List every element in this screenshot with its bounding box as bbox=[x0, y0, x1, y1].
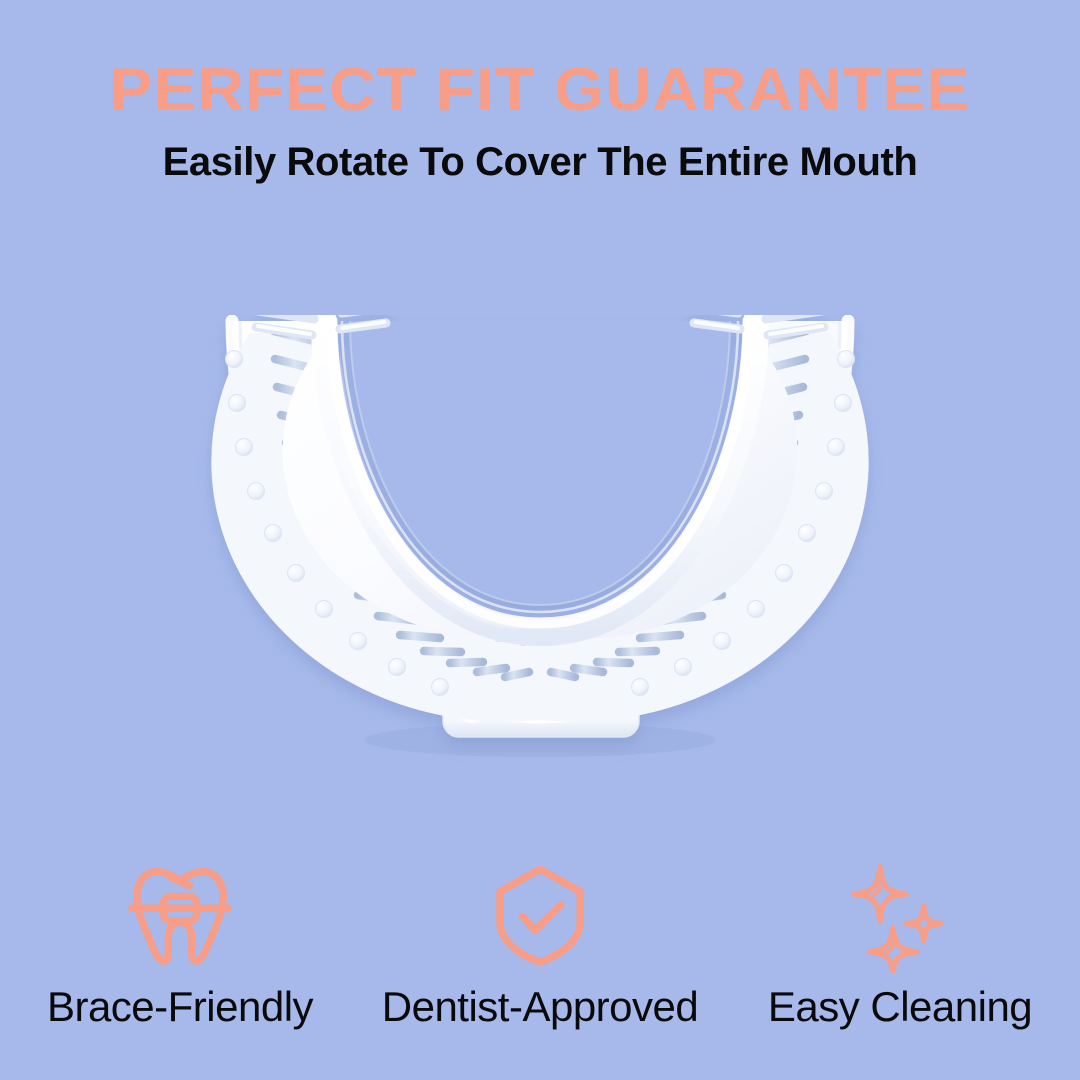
feature-item-easy-cleaning: Easy Cleaning bbox=[720, 855, 1080, 1031]
infographic-canvas: PERFECT FIT GUARANTEE Easily Rotate To C… bbox=[0, 0, 1080, 1080]
feature-label: Dentist-Approved bbox=[382, 983, 699, 1031]
feature-label: Easy Cleaning bbox=[768, 983, 1032, 1031]
headline-block: PERFECT FIT GUARANTEE Easily Rotate To C… bbox=[0, 0, 1080, 184]
product-body-group bbox=[190, 315, 890, 765]
tooth-braces-icon bbox=[121, 855, 239, 973]
feature-row: Brace-Friendly Dentist-Approved bbox=[0, 855, 1080, 1050]
u-shaped-toothbrush-head-illustration bbox=[190, 315, 890, 765]
product-image bbox=[190, 315, 890, 765]
shield-check-icon bbox=[481, 855, 599, 973]
page-title: PERFECT FIT GUARANTEE bbox=[0, 0, 1080, 120]
feature-item-dentist-approved: Dentist-Approved bbox=[360, 855, 720, 1031]
sparkles-icon bbox=[841, 855, 959, 973]
feature-item-brace-friendly: Brace-Friendly bbox=[0, 855, 360, 1031]
feature-label: Brace-Friendly bbox=[47, 983, 313, 1031]
page-subtitle: Easily Rotate To Cover The Entire Mouth bbox=[0, 120, 1080, 184]
